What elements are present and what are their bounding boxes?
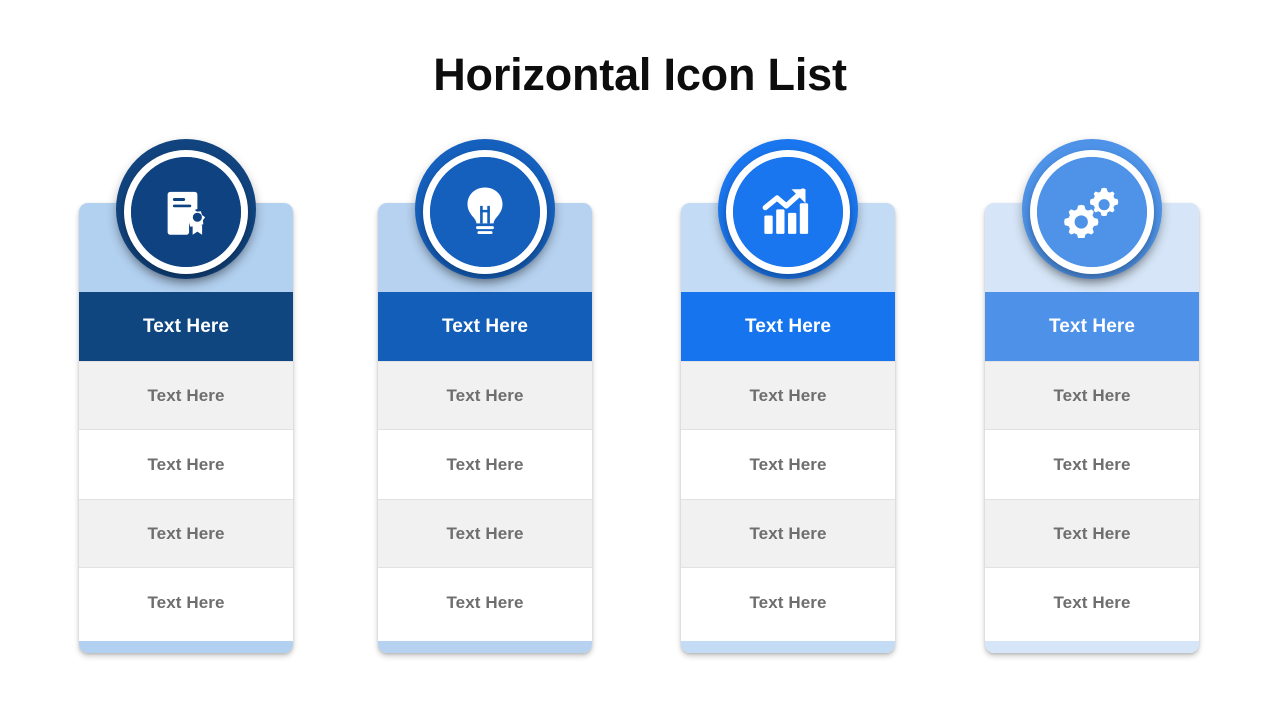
card-header-1[interactable]: Text Here [79,292,293,361]
icon-list-column-3[interactable]: Text Here Text Here Text Here Text Here … [681,150,895,660]
icon-list-column-4[interactable]: Text Here Text Here Text Here Text Here … [985,150,1199,660]
icon-list-column-2[interactable]: Text Here Text Here Text Here Text Here … [378,150,592,660]
list-item[interactable]: Text Here [79,430,293,499]
card-header-3[interactable]: Text Here [681,292,895,361]
badge-inner-2 [430,157,540,267]
gears-icon [1063,186,1121,238]
badge-inner-1 [131,157,241,267]
list-item-label: Text Here [749,386,826,406]
icon-list-columns: Text Here Text Here Text Here Text Here … [0,150,1280,670]
card-footer-strip-1 [79,641,293,653]
card-footer-strip-3 [681,641,895,653]
list-item-label: Text Here [1053,524,1130,544]
list-item-label: Text Here [147,593,224,613]
lightbulb-icon-badge[interactable] [423,150,547,274]
icon-list-column-1[interactable]: Text Here Text Here Text Here Text Here … [79,150,293,660]
growth-chart-icon-badge[interactable] [726,150,850,274]
list-item[interactable]: Text Here [681,430,895,499]
growth-chart-icon [760,186,816,238]
lightbulb-icon [459,184,511,240]
list-item-label: Text Here [749,593,826,613]
gears-icon-badge[interactable] [1030,150,1154,274]
list-item-label: Text Here [147,455,224,475]
list-item-label: Text Here [749,455,826,475]
list-item[interactable]: Text Here [985,361,1199,430]
card-header-4[interactable]: Text Here [985,292,1199,361]
certificate-icon [158,184,214,240]
card-footer-strip-2 [378,641,592,653]
badge-inner-3 [733,157,843,267]
list-item[interactable]: Text Here [79,499,293,568]
card-footer-strip-4 [985,641,1199,653]
list-item-label: Text Here [749,524,826,544]
list-item-label: Text Here [1053,593,1130,613]
card-header-label-3: Text Here [745,316,831,338]
card-header-label-4: Text Here [1049,316,1135,338]
card-header-label-1: Text Here [143,316,229,338]
list-item-label: Text Here [446,524,523,544]
list-item-label: Text Here [446,593,523,613]
list-item[interactable]: Text Here [79,568,293,637]
list-item-label: Text Here [1053,386,1130,406]
list-item[interactable]: Text Here [378,499,592,568]
list-item[interactable]: Text Here [378,568,592,637]
badge-inner-4 [1037,157,1147,267]
list-item[interactable]: Text Here [985,568,1199,637]
list-item[interactable]: Text Here [378,361,592,430]
card-header-label-2: Text Here [442,316,528,338]
slide-canvas: Horizontal Icon List Text Here Text Here… [0,0,1280,720]
list-item-label: Text Here [147,386,224,406]
list-item[interactable]: Text Here [681,499,895,568]
list-item-label: Text Here [147,524,224,544]
page-title: Horizontal Icon List [0,44,1280,106]
list-item[interactable]: Text Here [79,361,293,430]
list-item[interactable]: Text Here [985,499,1199,568]
list-item[interactable]: Text Here [681,361,895,430]
list-item[interactable]: Text Here [985,430,1199,499]
list-item[interactable]: Text Here [681,568,895,637]
list-item[interactable]: Text Here [378,430,592,499]
list-item-label: Text Here [1053,455,1130,475]
list-item-label: Text Here [446,455,523,475]
card-header-2[interactable]: Text Here [378,292,592,361]
certificate-icon-badge[interactable] [124,150,248,274]
list-item-label: Text Here [446,386,523,406]
